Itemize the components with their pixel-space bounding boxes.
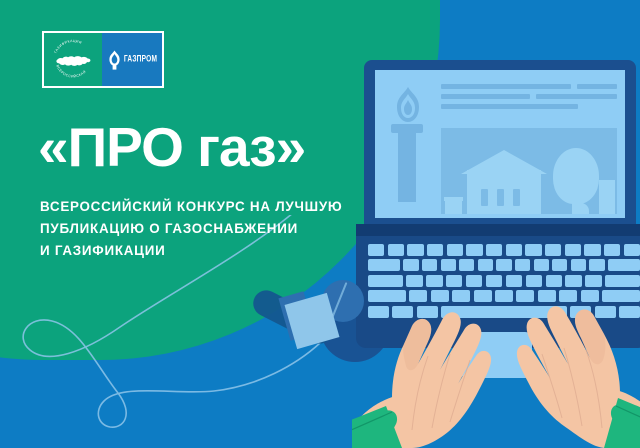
key[interactable] [608,259,640,271]
key[interactable] [584,244,600,256]
key[interactable] [552,259,567,271]
poster-canvas: ГАЗИФИКАЦИЯ ВСЕРОССИЙСКАЯ [0,0,640,448]
key[interactable] [624,244,640,256]
page-title: «ПРО газ» [38,118,305,176]
subtitle-line-1: ВСЕРОССИЙСКИЙ КОНКУРС НА ЛУЧШУЮ [40,196,370,218]
logo-lockup[interactable]: ГАЗИФИКАЦИЯ ВСЕРОССИЙСКАЯ [42,31,164,88]
key[interactable] [388,244,404,256]
russia-map-icon: ГАЗИФИКАЦИЯ ВСЕРОССИЙСКАЯ [49,36,97,84]
left-hand [352,280,492,448]
gazprom-wordmark: ГАЗПРОМ [124,54,157,64]
svg-text:ВСЕРОССИЙСКАЯ: ВСЕРОССИЙСКАЯ [55,64,86,78]
key[interactable] [545,244,561,256]
key[interactable] [427,244,443,256]
keyboard-row [368,259,640,271]
key[interactable] [589,259,604,271]
key[interactable] [441,259,456,271]
laptop-hinge [356,224,640,236]
subtitle-line-2: ПУБЛИКАЦИЮ О ГАЗОСНАБЖЕНИИ [40,218,370,240]
subtitle: ВСЕРОССИЙСКИЙ КОНКУРС НА ЛУЧШУЮ ПУБЛИКАЦ… [40,196,370,262]
laptop-screen [375,70,625,218]
key[interactable] [466,244,482,256]
article-text-lines [441,84,617,114]
gas-torch-flame-icon [385,84,431,202]
key[interactable] [486,244,502,256]
key[interactable] [604,244,620,256]
key[interactable] [496,259,511,271]
key[interactable] [534,259,549,271]
key[interactable] [447,244,463,256]
key[interactable] [422,259,437,271]
right-hand [510,272,640,448]
svg-text:ГАЗИФИКАЦИЯ: ГАЗИФИКАЦИЯ [54,38,83,53]
key[interactable] [407,244,423,256]
russia-gasification-emblem: ГАЗИФИКАЦИЯ ВСЕРОССИЙСКАЯ [44,33,102,86]
key[interactable] [478,259,493,271]
keyboard-row [368,244,640,256]
village-house-photo [441,128,617,214]
key[interactable] [368,259,400,271]
subtitle-line-3: И ГАЗИФИКАЦИИ [40,240,370,262]
key[interactable] [565,244,581,256]
key[interactable] [368,244,384,256]
gazprom-emblem: ГАЗПРОМ [102,33,162,86]
key[interactable] [571,259,586,271]
key[interactable] [525,244,541,256]
key[interactable] [515,259,530,271]
key[interactable] [403,259,418,271]
key[interactable] [459,259,474,271]
gazprom-flame-icon [107,50,122,70]
key[interactable] [506,244,522,256]
